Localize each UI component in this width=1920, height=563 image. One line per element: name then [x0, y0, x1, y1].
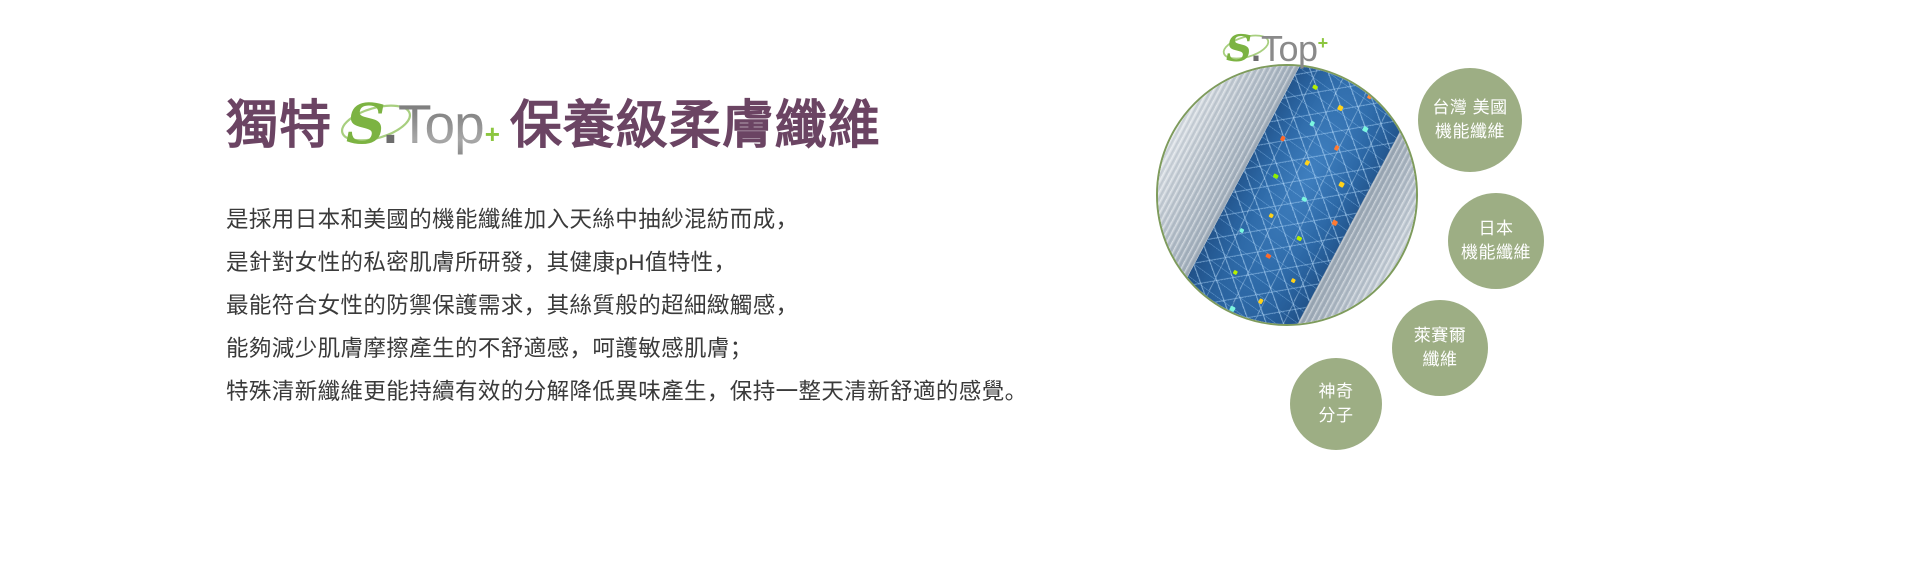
badge-line-1: 神奇 [1319, 380, 1354, 404]
body-paragraph: 是採用日本和美國的機能纖維加入天絲中抽紗混紡而成， 是針對女性的私密肌膚所研發，… [226, 198, 1086, 413]
brand-plus-superscript: + [485, 102, 500, 166]
brand-letter-s: S [1226, 28, 1252, 70]
badge-line-1: 台灣 美國 [1432, 96, 1507, 120]
title-prefix: 獨特 [226, 94, 332, 158]
body-line: 能夠減少肌膚摩擦產生的不舒適感，呵護敏感肌膚； [226, 327, 1086, 370]
badge-line-1: 萊賽爾 [1414, 324, 1467, 348]
page-title: 獨特 S . Top + 保養級柔膚纖維 [226, 92, 1086, 162]
brand-word-top: Top [1261, 28, 1318, 70]
brand-letter-s: S [346, 92, 385, 156]
badge-line-2: 分子 [1319, 404, 1354, 428]
badge-line-1: 日本 [1479, 217, 1514, 241]
body-line: 是採用日本和美國的機能纖維加入天絲中抽紗混紡而成， [226, 198, 1086, 241]
body-line: 是針對女性的私密肌膚所研發，其健康pH值特性， [226, 241, 1086, 284]
fiber-graphic: S . Top + 台灣 美國 機能纖維 日本 機能纖維 萊賽爾 纖維 神奇 分… [1130, 28, 1690, 548]
badge-japan: 日本 機能纖維 [1448, 193, 1544, 289]
fiber-photo-circle [1156, 64, 1418, 326]
title-suffix: 保養級柔膚纖維 [510, 94, 881, 158]
brand-dot: . [1251, 28, 1261, 70]
badge-lyocell: 萊賽爾 纖維 [1392, 300, 1488, 396]
badge-line-2: 機能纖維 [1461, 241, 1531, 265]
stop-brand-logo: S . Top + [346, 92, 500, 166]
body-line: 最能符合女性的防禦保護需求，其絲質般的超細緻觸感， [226, 284, 1086, 327]
badge-line-2: 纖維 [1423, 348, 1458, 372]
brand-plus-superscript: + [1318, 33, 1329, 54]
stop-logo-overlay: S . Top + [1226, 28, 1328, 70]
brand-word-top: Top [398, 92, 484, 156]
brand-dot: . [383, 92, 398, 156]
badge-line-2: 機能纖維 [1435, 120, 1505, 144]
badge-magic-molecule: 神奇 分子 [1290, 358, 1382, 450]
badge-taiwan-usa: 台灣 美國 機能纖維 [1418, 68, 1522, 172]
body-line: 特殊清新纖維更能持續有效的分解降低異味產生，保持一整天清新舒適的感覺。 [226, 370, 1086, 413]
content-column: 獨特 S . Top + 保養級柔膚纖維 是採用日本和美國的機能纖維加入天絲中抽… [226, 92, 1086, 413]
